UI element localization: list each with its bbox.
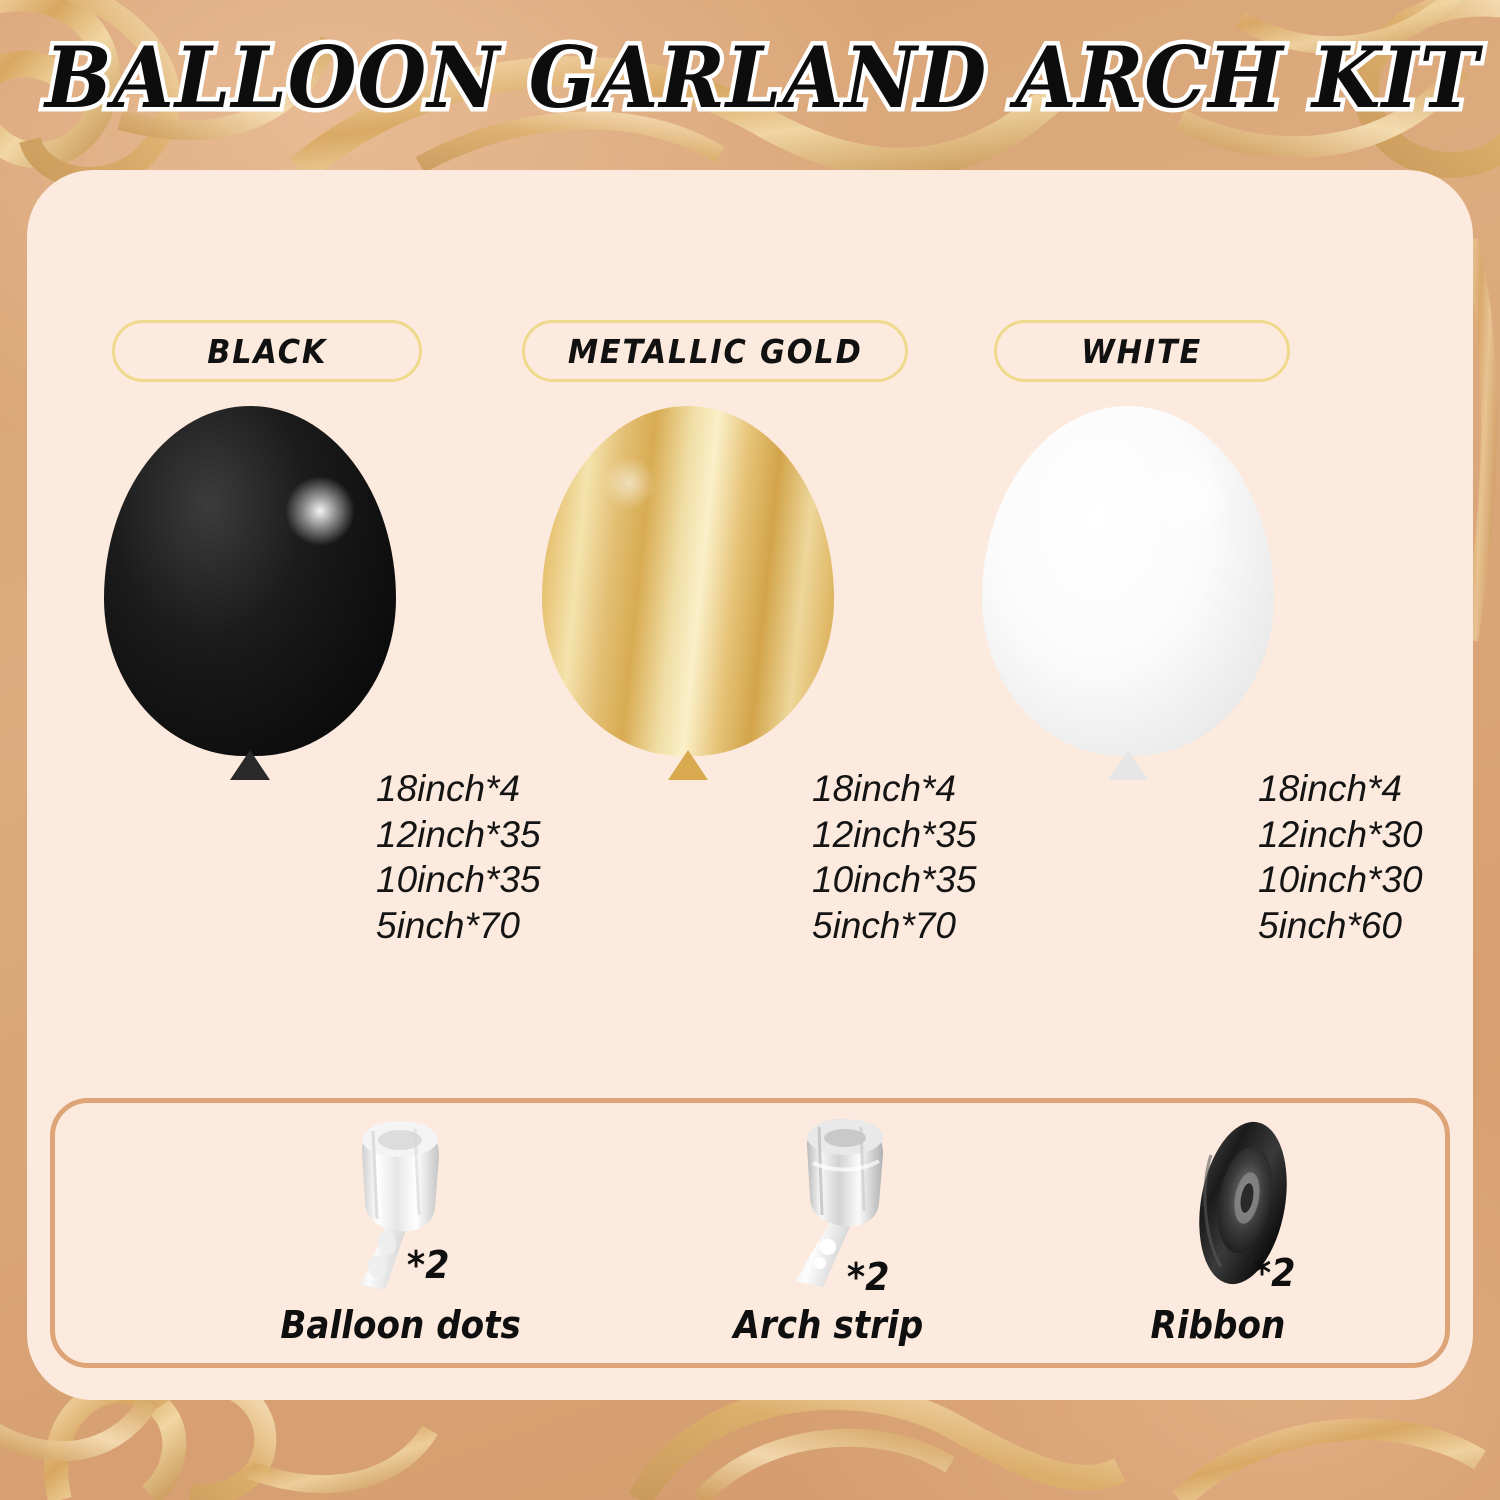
accessory-label: Ribbon xyxy=(1150,1303,1285,1347)
size-line: 5inch*70 xyxy=(812,903,977,949)
accessory-label: Balloon dots xyxy=(280,1303,521,1347)
size-list-black: 18inch*4 12inch*35 10inch*35 5inch*70 xyxy=(376,766,541,948)
ribbon-spool-icon xyxy=(1165,1115,1325,1300)
color-label-pill-black: BLACK xyxy=(112,320,422,382)
color-label-text: WHITE xyxy=(1082,332,1203,371)
page-title: BALLOON GARLAND ARCH KIT xyxy=(45,28,1455,127)
balloon-image-white xyxy=(950,406,1390,806)
gold-balloon-icon xyxy=(542,406,834,756)
size-line: 12inch*35 xyxy=(376,812,541,858)
arch-strip-roll-icon xyxy=(765,1115,925,1300)
product-infographic: BALLOON GARLAND ARCH KIT BLACK 18inch*4 … xyxy=(0,0,1500,1500)
tape-roll-icon xyxy=(315,1115,475,1300)
size-line: 10inch*30 xyxy=(1258,857,1423,903)
size-line: 10inch*35 xyxy=(376,857,541,903)
size-line: 18inch*4 xyxy=(376,766,541,812)
color-column-white: WHITE xyxy=(950,320,1390,806)
color-label-pill-metallic-gold: METALLIC GOLD xyxy=(522,320,908,382)
color-column-black: BLACK xyxy=(78,320,518,806)
size-list-metallic-gold: 18inch*4 12inch*35 10inch*35 5inch*70 xyxy=(812,766,977,948)
balloon-image-metallic-gold xyxy=(512,406,952,806)
color-label-text: METALLIC GOLD xyxy=(568,332,863,371)
black-balloon-icon xyxy=(104,406,396,756)
white-balloon-icon xyxy=(982,406,1274,756)
size-line: 18inch*4 xyxy=(812,766,977,812)
accessory-count: *2 xyxy=(407,1243,450,1287)
size-line: 18inch*4 xyxy=(1258,766,1423,812)
accessory-balloon-dots: *2 Balloon dots xyxy=(205,1103,635,1373)
accessory-ribbon: *2 Ribbon xyxy=(1055,1103,1485,1373)
size-line: 5inch*60 xyxy=(1258,903,1423,949)
color-column-metallic-gold: METALLIC GOLD xyxy=(512,320,952,806)
size-line: 10inch*35 xyxy=(812,857,977,903)
size-line: 12inch*30 xyxy=(1258,812,1423,858)
color-label-pill-white: WHITE xyxy=(994,320,1290,382)
size-list-white: 18inch*4 12inch*30 10inch*30 5inch*60 xyxy=(1258,766,1423,948)
accessory-count: *2 xyxy=(1253,1251,1296,1295)
accessory-arch-strip: *2 Arch strip xyxy=(655,1103,1085,1373)
balloon-image-black xyxy=(78,406,518,806)
accessories-panel: *2 Balloon dots xyxy=(50,1098,1450,1368)
accessory-count: *2 xyxy=(847,1255,890,1299)
color-label-text: BLACK xyxy=(207,332,327,371)
accessory-label: Arch strip xyxy=(734,1303,924,1347)
size-line: 5inch*70 xyxy=(376,903,541,949)
size-line: 12inch*35 xyxy=(812,812,977,858)
